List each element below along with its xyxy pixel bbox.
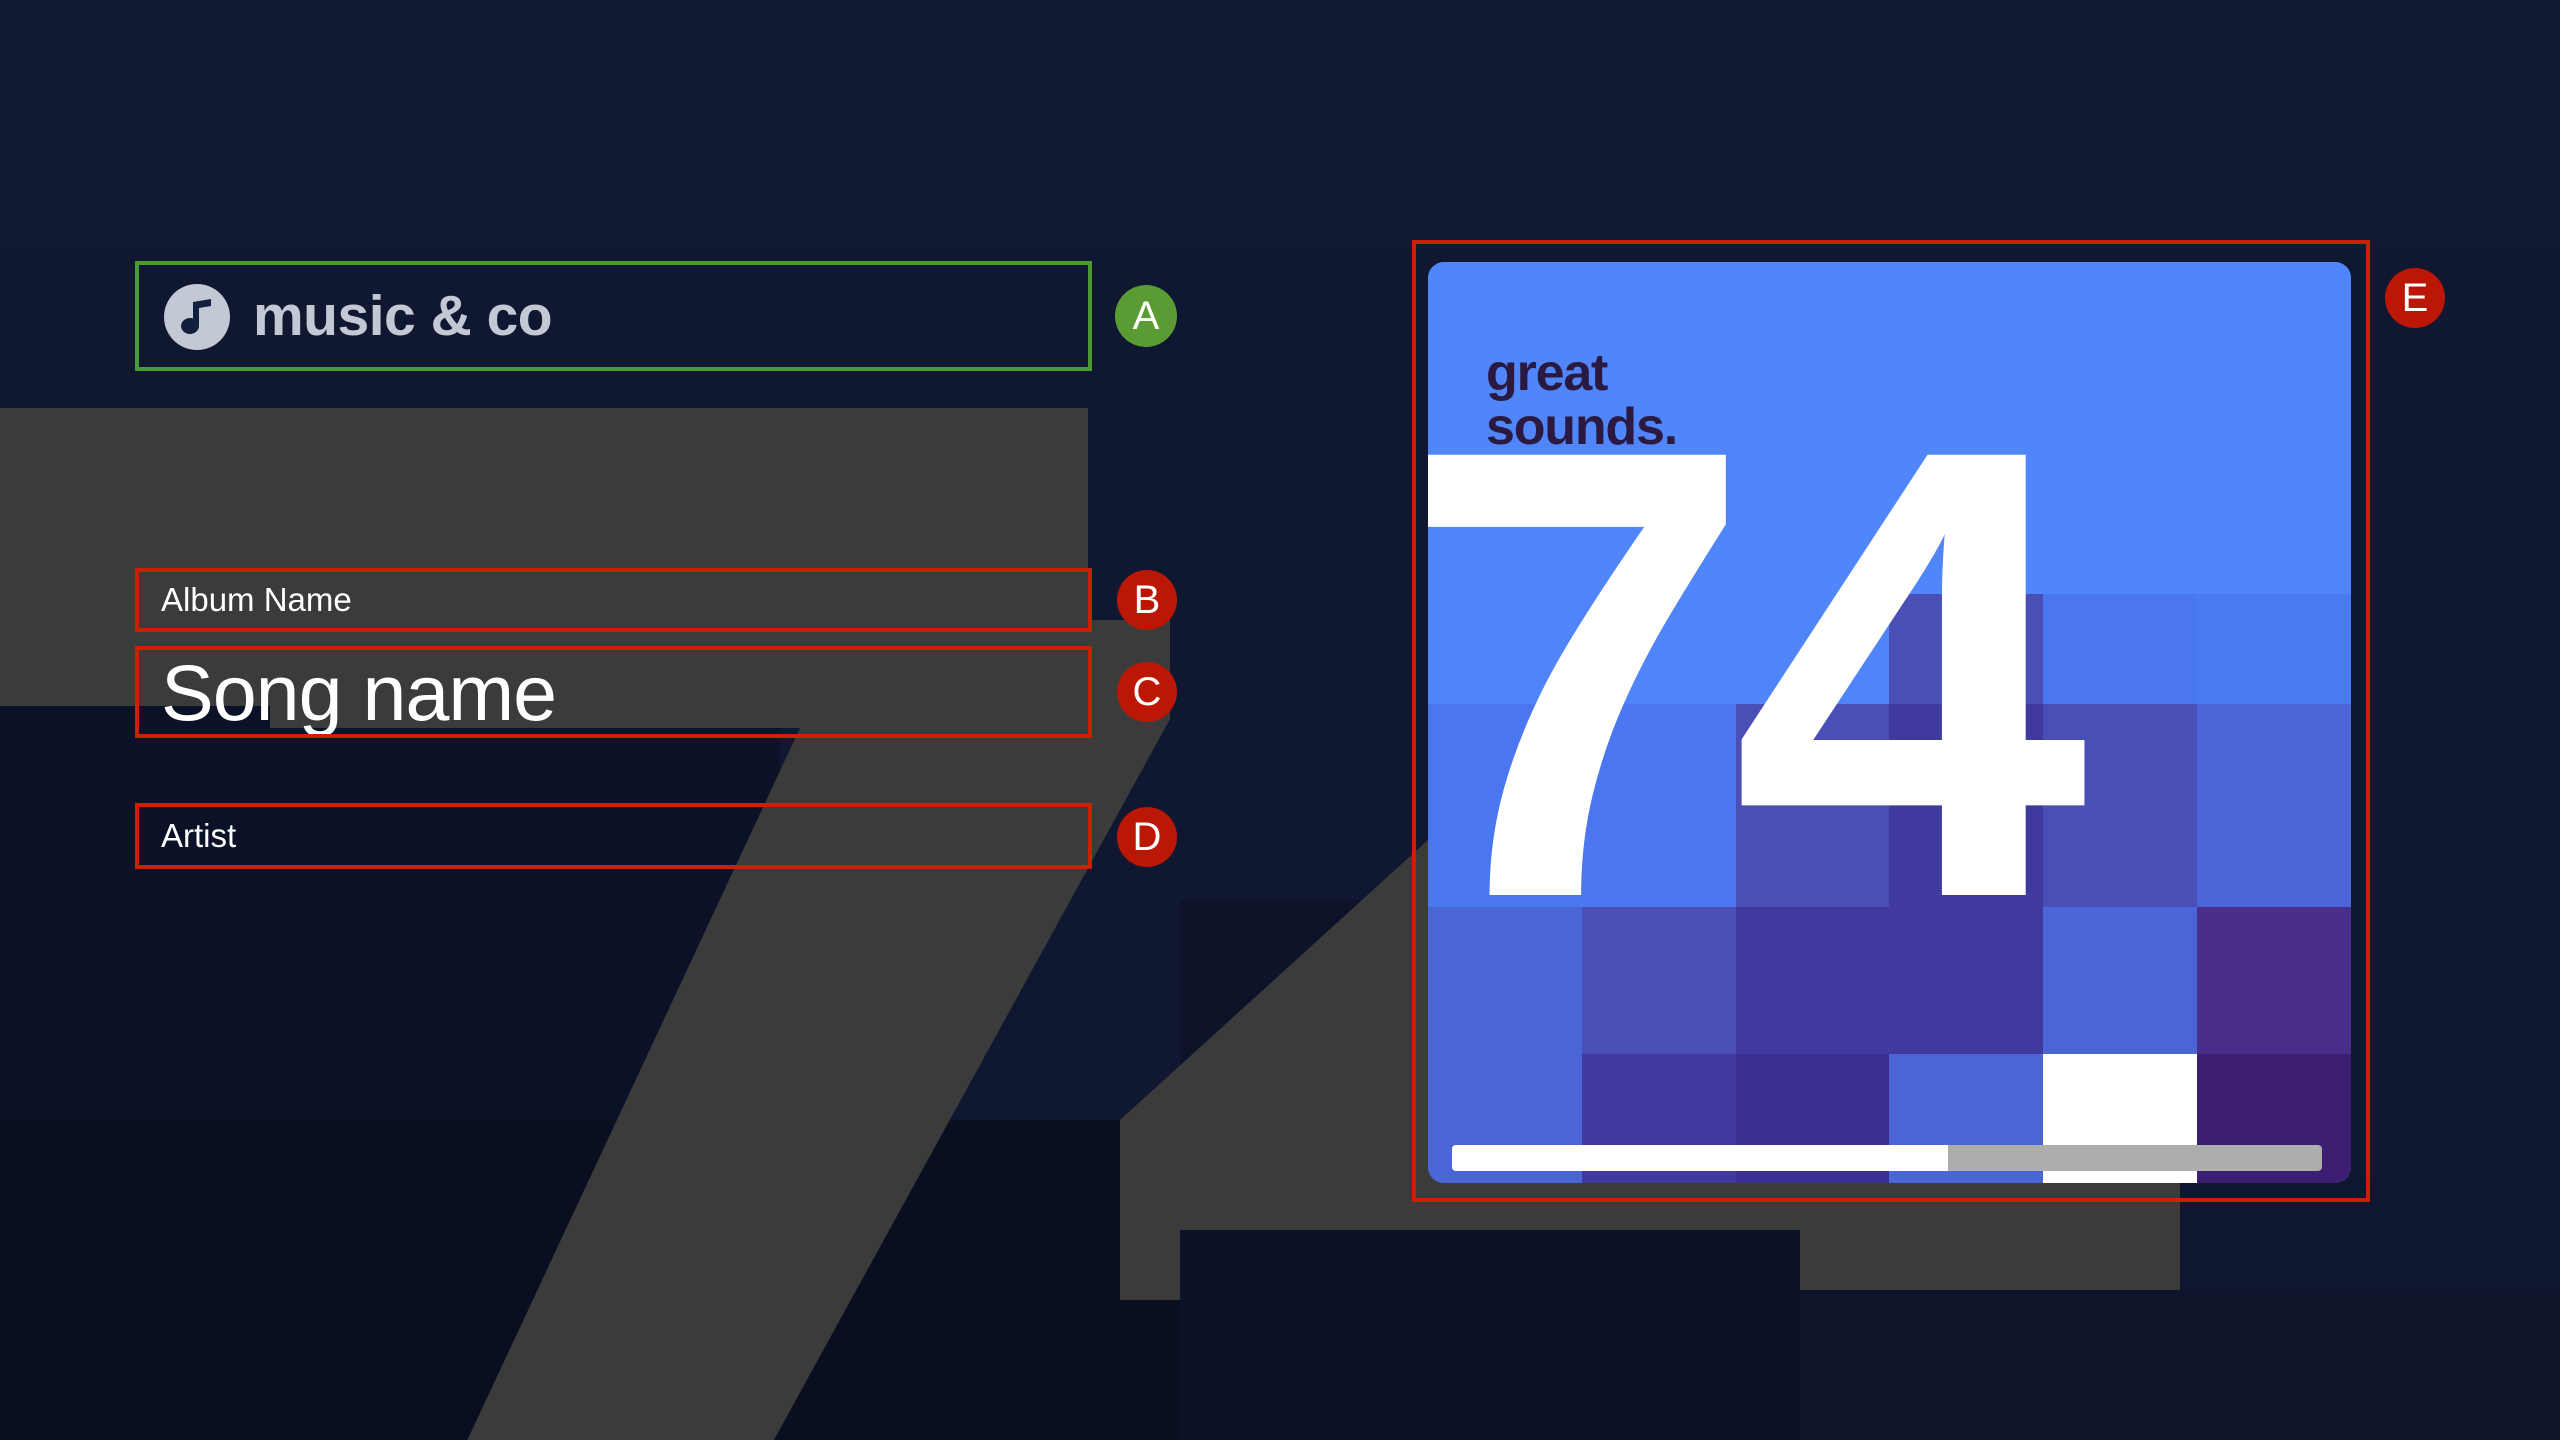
background-block-6: [1800, 1290, 2560, 1440]
artist-field[interactable]: Artist: [137, 805, 1090, 867]
annotation-marker-c: C: [1117, 662, 1177, 722]
album-name-field[interactable]: Album Name: [137, 570, 1090, 630]
annotation-marker-b: B: [1117, 570, 1177, 630]
song-name-field[interactable]: Song name: [137, 648, 1090, 736]
background-block-7: [2180, 1180, 2560, 1290]
annotation-marker-a: A: [1115, 285, 1177, 347]
brand-logo[interactable]: music & co: [137, 263, 1090, 370]
artist-label: Artist: [161, 817, 236, 855]
album-name-label: Album Name: [161, 581, 352, 619]
annotation-marker-d: D: [1117, 807, 1177, 867]
background-block-5: [1180, 1230, 1800, 1440]
app-screen: music & co Album Name Song name Artist g…: [0, 0, 2560, 1440]
album-artwork[interactable]: great sounds. 74: [1428, 262, 2351, 1183]
music-note-icon: [164, 284, 230, 350]
annotation-marker-e: E: [2385, 268, 2445, 328]
now-playing-info: music & co Album Name Song name Artist: [137, 0, 1097, 1440]
playback-progress-bar[interactable]: [1452, 1145, 2322, 1171]
playback-progress-fill: [1452, 1145, 1948, 1171]
brand-name-label: music & co: [253, 288, 552, 345]
song-name-label: Song name: [161, 653, 556, 732]
album-number: 74: [1428, 354, 2351, 994]
